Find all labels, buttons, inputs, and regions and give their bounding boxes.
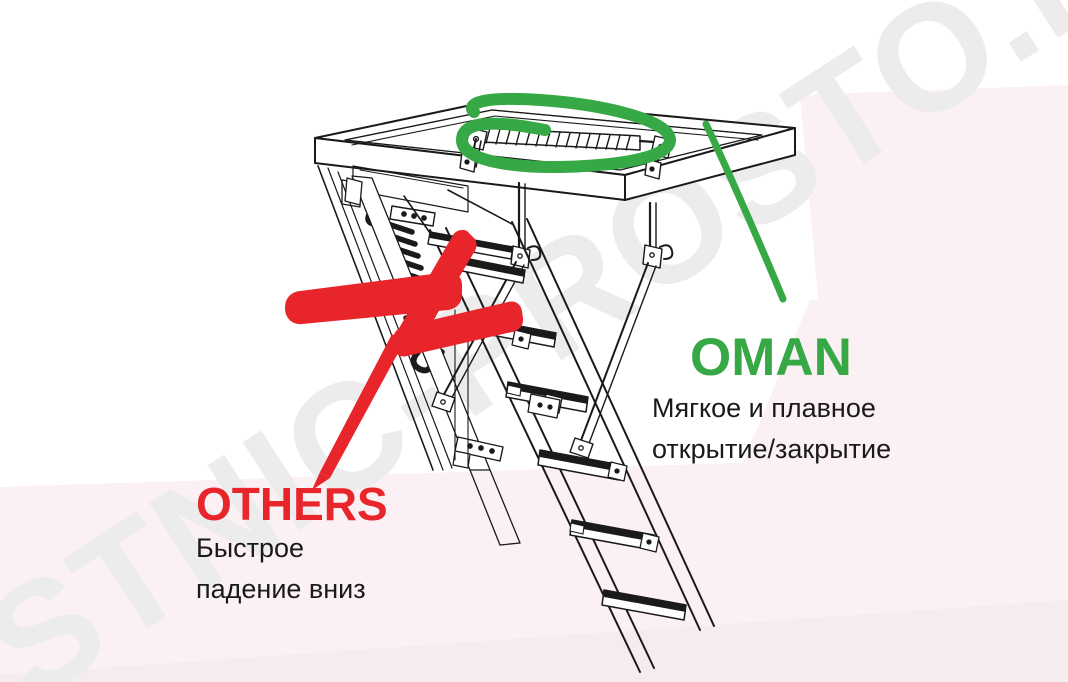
oman-description-line-2: открытие/закрытие: [652, 434, 891, 465]
others-description-line-2: падение вниз: [196, 574, 366, 605]
illustration-canvas: LESTNIC-PROSTO.RU: [0, 0, 1068, 682]
red-arrow-tail: [320, 334, 404, 478]
oman-description-line-1: Мягкое и плавное: [652, 393, 876, 424]
others-description-line-1: Быстрое: [196, 533, 304, 564]
others-title: OTHERS: [196, 477, 388, 531]
red-annotation-layer: [0, 0, 1068, 682]
oman-title: OMAN: [690, 327, 852, 388]
